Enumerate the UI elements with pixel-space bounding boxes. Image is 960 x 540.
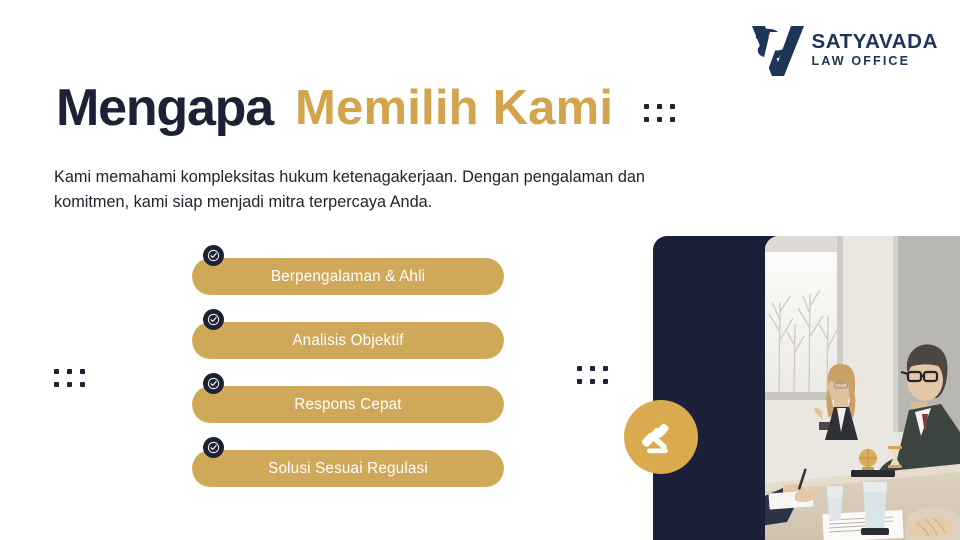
feature-pill-2[interactable]: Analisis Objektif	[192, 322, 504, 359]
feature-label: Respons Cepat	[294, 397, 401, 412]
feature-label: Berpengalaman & Ahli	[271, 269, 425, 284]
dot-grid-icon-left	[54, 369, 85, 387]
intro-line-2: komitmen, kami siap menjadi mitra terper…	[54, 190, 862, 215]
check-circle-icon	[203, 437, 224, 458]
feature-label: Solusi Sesuai Regulasi	[268, 461, 428, 476]
brand-logo: SATYAVADA LAW OFFICE	[748, 22, 938, 76]
slide-root: SATYAVADA LAW OFFICE Mengapa Memilih Kam…	[0, 0, 960, 540]
business-meeting-photo	[765, 236, 960, 540]
check-circle-icon	[203, 309, 224, 330]
page-title-main: Mengapa	[56, 78, 273, 138]
page-title-accent: Memilih Kami	[295, 80, 613, 136]
feature-label: Analisis Objektif	[292, 333, 403, 348]
intro-paragraph: Kami memahami kompleksitas hukum ketenag…	[54, 165, 862, 216]
intro-line-1: Kami memahami kompleksitas hukum ketenag…	[54, 168, 645, 186]
check-circle-icon	[203, 245, 224, 266]
feature-list: Berpengalaman & Ahli Analisis Objektif R…	[192, 258, 504, 487]
check-circle-icon	[203, 373, 224, 394]
gavel-icon	[624, 400, 698, 474]
dot-grid-icon-title	[644, 104, 675, 122]
dot-grid-icon-middle	[577, 366, 608, 384]
visual-panel	[653, 236, 960, 540]
page-title: Mengapa Memilih Kami	[56, 78, 613, 138]
brand-name: SATYAVADA	[811, 32, 938, 53]
feature-pill-4[interactable]: Solusi Sesuai Regulasi	[192, 450, 504, 487]
feature-pill-3[interactable]: Respons Cepat	[192, 386, 504, 423]
feature-pill-1[interactable]: Berpengalaman & Ahli	[192, 258, 504, 295]
brand-logo-text: SATYAVADA LAW OFFICE	[811, 30, 938, 67]
brand-tagline: LAW OFFICE	[811, 55, 938, 68]
sv-monogram-icon	[748, 22, 804, 76]
